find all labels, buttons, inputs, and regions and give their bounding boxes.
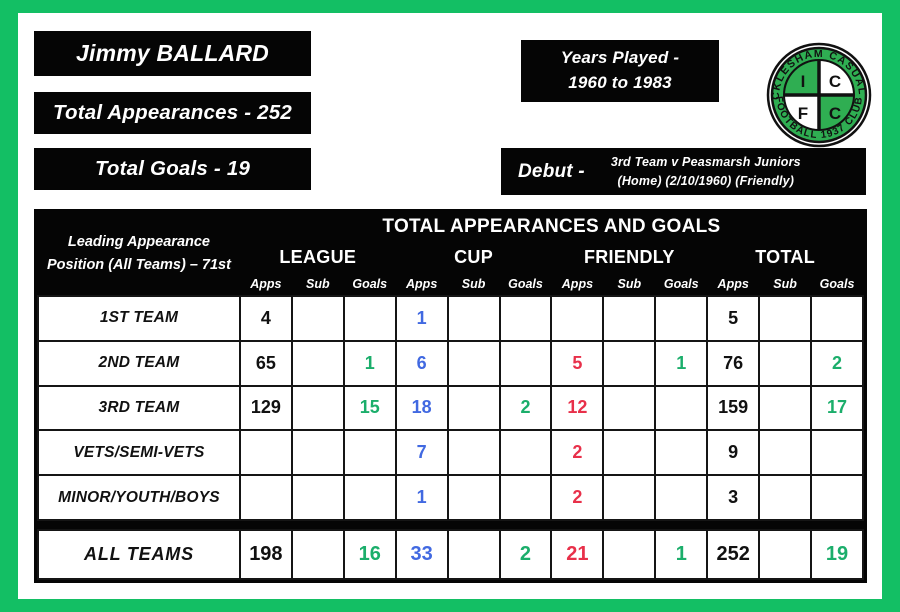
cell-3: 18 <box>396 386 448 431</box>
cell-8 <box>655 296 707 341</box>
cell-1 <box>292 386 344 431</box>
cell-0 <box>240 430 292 475</box>
club-badge: I C F C ICKLESHAM CASUALS FOOTBALL 1937 … <box>763 39 875 151</box>
svg-text:C: C <box>829 72 841 91</box>
cell-7 <box>603 386 655 431</box>
cell-7 <box>603 430 655 475</box>
subheader-sub-4: Sub <box>448 272 500 296</box>
subheader-apps-9: Apps <box>707 272 759 296</box>
cell-11: 2 <box>811 341 863 386</box>
cell-8 <box>655 430 707 475</box>
cell-2: 16 <box>344 530 396 579</box>
cell-0: 129 <box>240 386 292 431</box>
row-label: 3RD TEAM <box>38 386 240 431</box>
table-divider <box>38 520 863 530</box>
years-played-line-1: Years Played - <box>561 46 679 71</box>
club-crest-icon: I C F C ICKLESHAM CASUALS FOOTBALL 1937 … <box>763 39 875 151</box>
table-row: 3RD TEAM129151821215917 <box>38 386 863 431</box>
svg-text:F: F <box>798 104 808 123</box>
table-row: 1ST TEAM415 <box>38 296 863 341</box>
cell-11 <box>811 475 863 520</box>
appearances-goals-table: Leading Appearance Position (All Teams) … <box>34 209 867 583</box>
cell-7 <box>603 530 655 579</box>
cell-7 <box>603 475 655 520</box>
cell-7 <box>603 341 655 386</box>
debut-details: 3rd Team v Peasmarsh Juniors (Home) (2/1… <box>611 153 801 191</box>
cell-9: 5 <box>707 296 759 341</box>
years-played-banner: Years Played - 1960 to 1983 <box>521 40 719 102</box>
cell-2 <box>344 296 396 341</box>
subheader-goals-8: Goals <box>655 272 707 296</box>
cell-4 <box>448 430 500 475</box>
subheader-apps-0: Apps <box>240 272 292 296</box>
subheader-apps-6: Apps <box>551 272 603 296</box>
cell-4 <box>448 296 500 341</box>
cell-9: 3 <box>707 475 759 520</box>
cell-6: 12 <box>551 386 603 431</box>
cell-4 <box>448 530 500 579</box>
cell-3: 33 <box>396 530 448 579</box>
debut-line-2: (Home) (2/10/1960) (Friendly) <box>617 174 794 188</box>
subheader-goals-2: Goals <box>344 272 396 296</box>
cell-2: 15 <box>344 386 396 431</box>
row-label: 2ND TEAM <box>38 341 240 386</box>
cell-10 <box>759 430 811 475</box>
cell-10 <box>759 475 811 520</box>
table-body: 1ST TEAM4152ND TEAM6516517623RD TEAM1291… <box>38 296 863 579</box>
cell-11 <box>811 296 863 341</box>
cell-5 <box>500 475 552 520</box>
cell-6: 2 <box>551 430 603 475</box>
cell-1 <box>292 430 344 475</box>
cell-2 <box>344 475 396 520</box>
row-label: MINOR/YOUTH/BOYS <box>38 475 240 520</box>
cell-11 <box>811 430 863 475</box>
cell-6: 21 <box>551 530 603 579</box>
cell-10 <box>759 386 811 431</box>
cell-2 <box>344 430 396 475</box>
total-goals-banner: Total Goals - 19 <box>34 148 311 190</box>
stats-table: Leading Appearance Position (All Teams) … <box>37 212 864 580</box>
cell-5: 2 <box>500 386 552 431</box>
table-row: VETS/SEMI-VETS729 <box>38 430 863 475</box>
cell-0: 4 <box>240 296 292 341</box>
subheader-sub-7: Sub <box>603 272 655 296</box>
cell-8 <box>655 475 707 520</box>
row-label: 1ST TEAM <box>38 296 240 341</box>
cell-3: 1 <box>396 475 448 520</box>
cell-3: 1 <box>396 296 448 341</box>
cell-2: 1 <box>344 341 396 386</box>
cell-11: 17 <box>811 386 863 431</box>
cell-3: 6 <box>396 341 448 386</box>
cell-4 <box>448 475 500 520</box>
cell-5: 2 <box>500 530 552 579</box>
debut-line-1: 3rd Team v Peasmarsh Juniors <box>611 155 801 169</box>
table-row: 2ND TEAM651651762 <box>38 341 863 386</box>
cell-8: 1 <box>655 341 707 386</box>
svg-text:C: C <box>829 104 841 123</box>
cell-11: 19 <box>811 530 863 579</box>
cell-9: 159 <box>707 386 759 431</box>
cell-6: 2 <box>551 475 603 520</box>
row-label: ALL TEAMS <box>38 530 240 579</box>
cell-1 <box>292 530 344 579</box>
group-header-cup: CUP <box>396 242 552 272</box>
table-divider-cell <box>38 520 863 530</box>
cell-4 <box>448 341 500 386</box>
svg-text:I: I <box>801 72 806 91</box>
cell-1 <box>292 475 344 520</box>
cell-6 <box>551 296 603 341</box>
row-label: VETS/SEMI-VETS <box>38 430 240 475</box>
cell-1 <box>292 296 344 341</box>
cell-0 <box>240 475 292 520</box>
table-total-row: ALL TEAMS1981633221125219 <box>38 530 863 579</box>
cell-6: 5 <box>551 341 603 386</box>
cell-8 <box>655 386 707 431</box>
cell-10 <box>759 530 811 579</box>
debut-banner: Debut - 3rd Team v Peasmarsh Juniors (Ho… <box>501 148 866 195</box>
subheader-sub-1: Sub <box>292 272 344 296</box>
cell-4 <box>448 386 500 431</box>
table-header: Leading Appearance Position (All Teams) … <box>38 212 863 296</box>
debut-label: Debut - <box>518 161 585 183</box>
cell-7 <box>603 296 655 341</box>
cell-3: 7 <box>396 430 448 475</box>
cell-0: 198 <box>240 530 292 579</box>
player-name-banner: Jimmy BALLARD <box>34 31 311 76</box>
years-played-line-2: 1960 to 1983 <box>568 71 672 96</box>
cell-9: 252 <box>707 530 759 579</box>
cell-1 <box>292 341 344 386</box>
cell-5 <box>500 430 552 475</box>
subheader-sub-10: Sub <box>759 272 811 296</box>
cell-9: 76 <box>707 341 759 386</box>
header-section: Jimmy BALLARD Total Appearances - 252 To… <box>18 13 882 198</box>
cell-10 <box>759 341 811 386</box>
group-header-league: LEAGUE <box>240 242 396 272</box>
cell-5 <box>500 341 552 386</box>
group-header-total: TOTAL <box>707 242 863 272</box>
cell-9: 9 <box>707 430 759 475</box>
leading-position-label: Leading Appearance Position (All Teams) … <box>38 212 240 296</box>
subheader-goals-11: Goals <box>811 272 863 296</box>
cell-8: 1 <box>655 530 707 579</box>
total-appearances-banner: Total Appearances - 252 <box>34 92 311 134</box>
subheader-apps-3: Apps <box>396 272 448 296</box>
cell-10 <box>759 296 811 341</box>
cell-5 <box>500 296 552 341</box>
cell-0: 65 <box>240 341 292 386</box>
player-stats-card: Jimmy BALLARD Total Appearances - 252 To… <box>18 13 882 599</box>
group-header-friendly: FRIENDLY <box>551 242 707 272</box>
table-title: TOTAL APPEARANCES AND GOALS <box>240 212 863 242</box>
subheader-goals-5: Goals <box>500 272 552 296</box>
table-row: MINOR/YOUTH/BOYS123 <box>38 475 863 520</box>
